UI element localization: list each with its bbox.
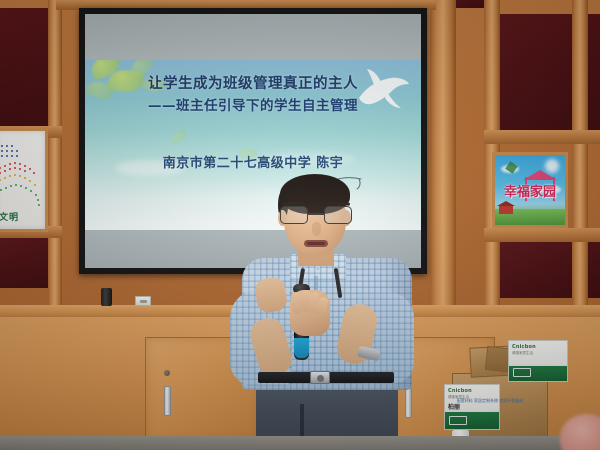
presenter <box>232 172 417 450</box>
product-box-lower: Cnicbon 健康家居生活 柏丽 <box>444 384 500 430</box>
wood-stile-mid-right <box>430 0 456 320</box>
poster-left: 文明 <box>0 128 48 232</box>
box-brand-sub: 健康家居生活 <box>512 351 533 356</box>
glasses-bridge <box>308 213 324 215</box>
wood-rail-right-low <box>484 228 600 242</box>
mouth <box>304 240 328 247</box>
slide-subtitle: ——班主任引导下的学生自主管理 <box>85 94 421 114</box>
box-brand-label: Cnicbon <box>448 388 472 394</box>
wood-stile-left <box>48 0 62 320</box>
leaf-icon <box>170 129 189 145</box>
classroom-photo: 文明 幸福家园 <box>0 0 600 450</box>
carton-printed-text: 配套材料 家居定制系统 优质环保板材 <box>455 398 525 404</box>
poster-left-title: 文明 <box>0 210 19 223</box>
presenter-gripping-hand <box>290 290 330 336</box>
box-logo-icon <box>513 368 531 377</box>
wall-panel-left-upper <box>0 8 52 126</box>
belt-buckle <box>310 371 330 384</box>
microphone-blue-band <box>294 338 309 358</box>
lens-left <box>280 206 308 224</box>
nose <box>312 222 321 236</box>
wood-rail-right-mid <box>484 130 600 144</box>
red-house-icon <box>499 206 513 214</box>
screen-letterbox-top <box>85 14 421 60</box>
wall-panel-left-lower <box>0 236 50 288</box>
white-power-outlet[interactable] <box>135 296 151 306</box>
lens-right <box>324 206 352 224</box>
floor <box>0 436 600 450</box>
slide-title: 让学生成为班级管理真正的主人 <box>85 72 421 93</box>
box-brand-label: Cnicbon <box>512 344 536 350</box>
product-box-upper: Cnicbon 健康家居生活 <box>508 340 568 382</box>
slide-author: 南京市第二十七高级中学 陈宇 <box>85 152 421 171</box>
poster-right-title: 幸福家园 <box>495 181 565 200</box>
black-cylinder-device <box>101 288 112 306</box>
box-logo-icon <box>449 416 467 425</box>
poster-right: 幸福家园 <box>492 152 568 228</box>
wood-stile-far-right <box>572 0 588 320</box>
